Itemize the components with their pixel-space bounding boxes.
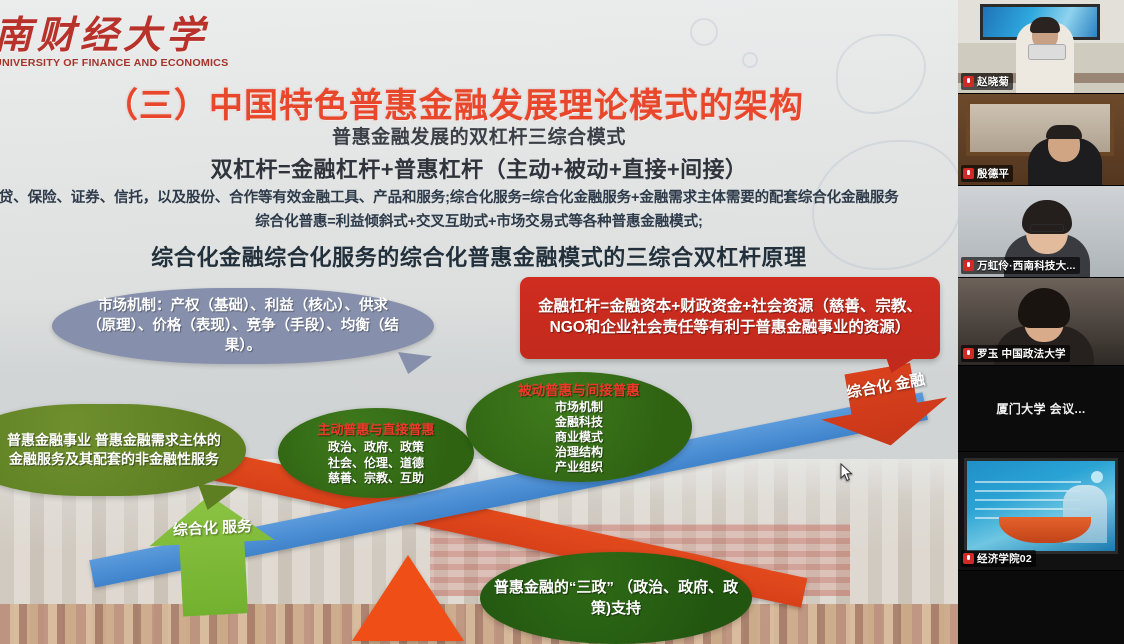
- eyeglasses-icon: [1030, 224, 1064, 232]
- active-inclusion-ellipse: 主动普惠与直接普惠 政治、政府、政策 社会、伦理、道德 慈善、宗教、互助: [278, 408, 474, 498]
- active-inclusion-line: 慈善、宗教、互助: [317, 471, 434, 487]
- screen-share-meeting-view: 南财经大学 UNIVERSITY OF FINANCE AND ECONOMIC…: [0, 0, 1124, 644]
- market-mechanism-text: 市场机制：产权（基础）、利益（核心）、供求（原理）、价格（表现）、竞争（手段）、…: [84, 296, 402, 356]
- participant-tile-camera-off[interactable]: 厦门大学 会议...: [958, 366, 1124, 452]
- slide-subtitle-3: 综合化普惠=利益倾斜式+交叉互助式+市场交易式等各种普惠金融模式;: [0, 210, 958, 231]
- participant-name: 殷德平: [977, 166, 1009, 181]
- participant-name-badge: 殷德平: [961, 165, 1013, 182]
- passive-inclusion-line: 产业组织: [518, 460, 640, 475]
- market-mechanism-callout: 市场机制：产权（基础）、利益（核心）、供求（原理）、价格（表现）、竞争（手段）、…: [52, 288, 434, 364]
- participant-name: 经济学院02: [977, 551, 1032, 566]
- passive-inclusion-line: 商业模式: [518, 430, 640, 445]
- participant-name: 厦门大学 会议...: [996, 400, 1085, 417]
- passive-inclusion-line: 治理结构: [518, 445, 640, 460]
- participant-name-badge: 万虹伶·西南科技大...: [961, 257, 1080, 274]
- microphone-icon: [963, 553, 974, 564]
- shared-slide[interactable]: 南财经大学 UNIVERSITY OF FINANCE AND ECONOMIC…: [0, 0, 958, 644]
- three-policy-support-text: 普惠金融的“三政” （政治、政府、政策)支持: [489, 577, 743, 620]
- active-inclusion-title: 主动普惠与直接普惠: [317, 419, 434, 438]
- participant-tile[interactable]: 万虹伶·西南科技大...: [958, 186, 1124, 278]
- participant-tile[interactable]: 殷德平: [958, 94, 1124, 186]
- passive-inclusion-title: 被动普惠与间接普惠: [518, 379, 640, 399]
- microphone-icon: [963, 168, 974, 179]
- microphone-icon: [963, 260, 974, 271]
- active-inclusion-line: 社会、伦理、道德: [317, 456, 434, 472]
- participant-name: 赵晓菊: [977, 74, 1009, 89]
- university-logo-english: UNIVERSITY OF FINANCE AND ECONOMICS: [0, 57, 198, 69]
- passive-inclusion-ellipse: 被动普惠与间接普惠 市场机制 金融科技 商业模式 治理结构 产业组织: [466, 372, 692, 482]
- financial-lever-callout: 金融杠杆=金融资本+财政资金+社会资源（慈善、宗教、NGO和企业社会责任等有利于…: [520, 277, 940, 359]
- handheld-phone: [1028, 44, 1066, 60]
- active-inclusion-line: 政治、政府、政策: [317, 440, 434, 456]
- participant-name-badge: 赵晓菊: [961, 73, 1013, 90]
- participant-name-badge: 经济学院02: [961, 550, 1036, 567]
- avatar-hair: [1030, 17, 1060, 33]
- financial-lever-text: 金融杠杆=金融资本+财政资金+社会资源（慈善、宗教、NGO和企业社会责任等有利于…: [529, 297, 931, 339]
- slide-definition-line: =信贷、保险、证券、信托，以及股份、合作等有效金融工具、产品和服务;综合化服务=…: [0, 186, 958, 207]
- slide-subtitle-1: 普惠金融发展的双杠杆三综合模式: [0, 122, 958, 149]
- triangle-fulcrum: [352, 555, 464, 641]
- participant-video-strip[interactable]: 赵晓菊 殷德平 万虹伶·西南科技大...: [958, 0, 1124, 644]
- avatar-hair: [1046, 125, 1082, 139]
- university-logo: 南财经大学 UNIVERSITY OF FINANCE AND ECONOMIC…: [0, 16, 194, 69]
- avatar-hair: [1018, 288, 1070, 328]
- slide-subtitle-2: 双杠杆=金融杠杆+普惠杠杆（主动+被动+直接+间接）: [0, 152, 958, 184]
- tile-display-screen: [964, 458, 1118, 554]
- sun-icon: [1091, 471, 1103, 483]
- microphone-icon: [963, 348, 974, 359]
- mouse-cursor-icon: [840, 463, 853, 482]
- watermark-circle: [690, 18, 718, 46]
- slide-title: （三）中国特色普惠金融发展理论模式的架构: [104, 78, 894, 127]
- passive-inclusion-line: 市场机制: [518, 400, 640, 415]
- inclusive-finance-career-callout: 普惠金融事业 普惠金融需求主体的金融服务及其配套的非金融性服务: [0, 404, 246, 496]
- watermark-circle: [742, 52, 758, 68]
- three-policy-support-ellipse: 普惠金融的“三政” （政治、政府、政策)支持: [480, 552, 752, 644]
- participant-tile[interactable]: 经济学院02: [958, 452, 1124, 571]
- inclusive-finance-career-text: 普惠金融事业 普惠金融需求主体的金融服务及其配套的非金融性服务: [0, 431, 227, 469]
- participant-tile[interactable]: 罗玉 中国政法大学: [958, 278, 1124, 366]
- participant-tile[interactable]: 赵晓菊: [958, 0, 1124, 94]
- university-logo-chinese: 南财经大学: [0, 16, 194, 54]
- microphone-icon: [963, 76, 974, 87]
- passive-inclusion-line: 金融科技: [518, 415, 640, 430]
- slide-subtitle-4: 综合化金融综合化服务的综合化普惠金融模式的三综合双杠杆原理: [0, 240, 958, 272]
- participant-name: 罗玉 中国政法大学: [977, 346, 1066, 361]
- participant-name: 万虹伶·西南科技大...: [977, 258, 1076, 273]
- participant-name-badge: 罗玉 中国政法大学: [961, 345, 1070, 362]
